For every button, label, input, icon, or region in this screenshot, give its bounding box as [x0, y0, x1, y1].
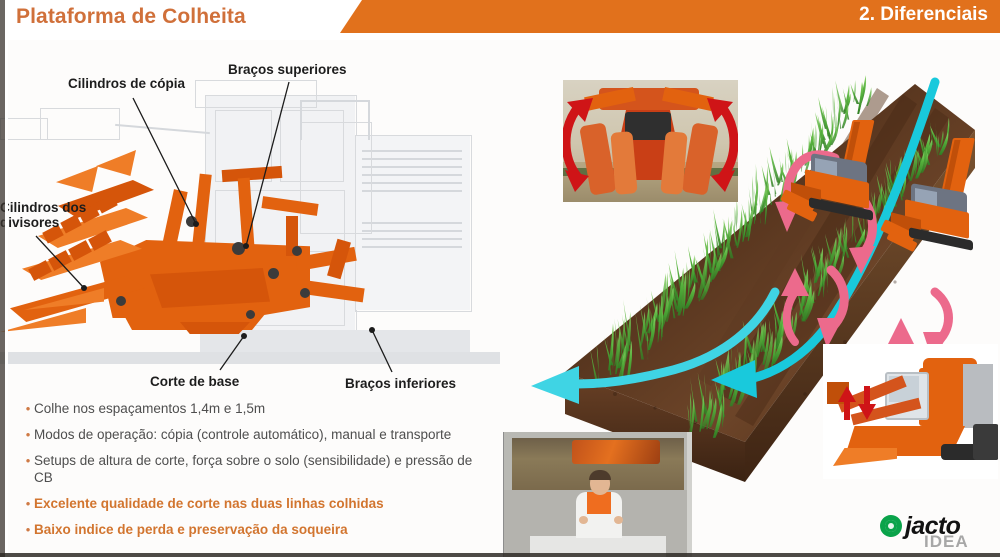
section-banner-label: 2. Diferenciais	[859, 4, 988, 26]
callout-dot	[369, 327, 375, 333]
bullet-marker: •	[22, 495, 34, 512]
logo-submark: IDEA	[924, 532, 969, 552]
feature-bullet-list: • Colhe nos espaçamentos 1,4m e 1,5m • M…	[22, 400, 492, 547]
slide-canvas: Plataforma de Colheita 2. Diferenciais	[0, 0, 1000, 557]
red-rotation-arrows	[563, 80, 738, 202]
slide-bottom-edge	[0, 553, 1000, 557]
callout-bracos-superiores: Braços superiores	[228, 62, 347, 77]
list-item: • Colhe nos espaçamentos 1,4m e 1,5m	[22, 400, 492, 417]
red-updown-arrows	[823, 344, 998, 479]
harvester-side-view-inset	[823, 344, 998, 479]
list-item: • Modos de operação: cópia (controle aut…	[22, 426, 492, 443]
clover-icon	[880, 515, 902, 537]
screen-content-machine	[572, 440, 660, 464]
list-item: • Baixo indice de perda e preservação da…	[22, 521, 492, 538]
callout-dot	[241, 333, 247, 339]
header-divider	[0, 33, 1000, 40]
callout-cilindros-dos-divisores: Cilindros dos divisores	[0, 200, 86, 230]
callout-dot	[193, 221, 199, 227]
presenter-video-overlay[interactable]	[503, 432, 692, 557]
slide-header: Plataforma de Colheita 2. Diferenciais	[0, 0, 1000, 40]
callout-corte-de-base: Corte de base	[150, 374, 239, 389]
bullet-marker: •	[22, 400, 34, 417]
list-item-label-highlighted: Baixo indice de perda e preservação da s…	[34, 521, 348, 538]
callout-bracos-inferiores: Braços inferiores	[345, 376, 456, 391]
page-title: Plataforma de Colheita	[16, 5, 246, 29]
bullet-marker: •	[22, 426, 34, 443]
presenter-hand-right	[614, 516, 623, 524]
bullet-marker: •	[22, 452, 34, 469]
list-item-label-highlighted: Excelente qualidade de corte nas duas li…	[34, 495, 384, 512]
callout-dot	[243, 243, 249, 249]
callout-dot	[81, 285, 87, 291]
callout-cilindros-de-copia: Cilindros de cópia	[68, 76, 185, 91]
overlay-right-edge	[687, 432, 692, 557]
list-item-label: Modos de operação: cópia (controle autom…	[34, 426, 451, 443]
presenter-hand-left	[579, 516, 588, 524]
presenter-collar	[587, 492, 611, 514]
list-item-label: Setups de altura de corte, força sobre o…	[34, 452, 492, 486]
list-item: • Setups de altura de corte, força sobre…	[22, 452, 492, 486]
list-item: • Excelente qualidade de corte nas duas …	[22, 495, 492, 512]
harvester-front-view-inset	[563, 80, 738, 202]
list-item-label: Colhe nos espaçamentos 1,4m e 1,5m	[34, 400, 265, 417]
slide-left-inner-edge	[5, 0, 8, 557]
section-banner: 2. Diferenciais	[340, 0, 1000, 33]
bullet-marker: •	[22, 521, 34, 538]
jacto-logo: jacto IDEA	[880, 506, 992, 550]
harvester-platform-diagram: Cilindros de cópia Braços superiores Cil…	[0, 40, 510, 400]
